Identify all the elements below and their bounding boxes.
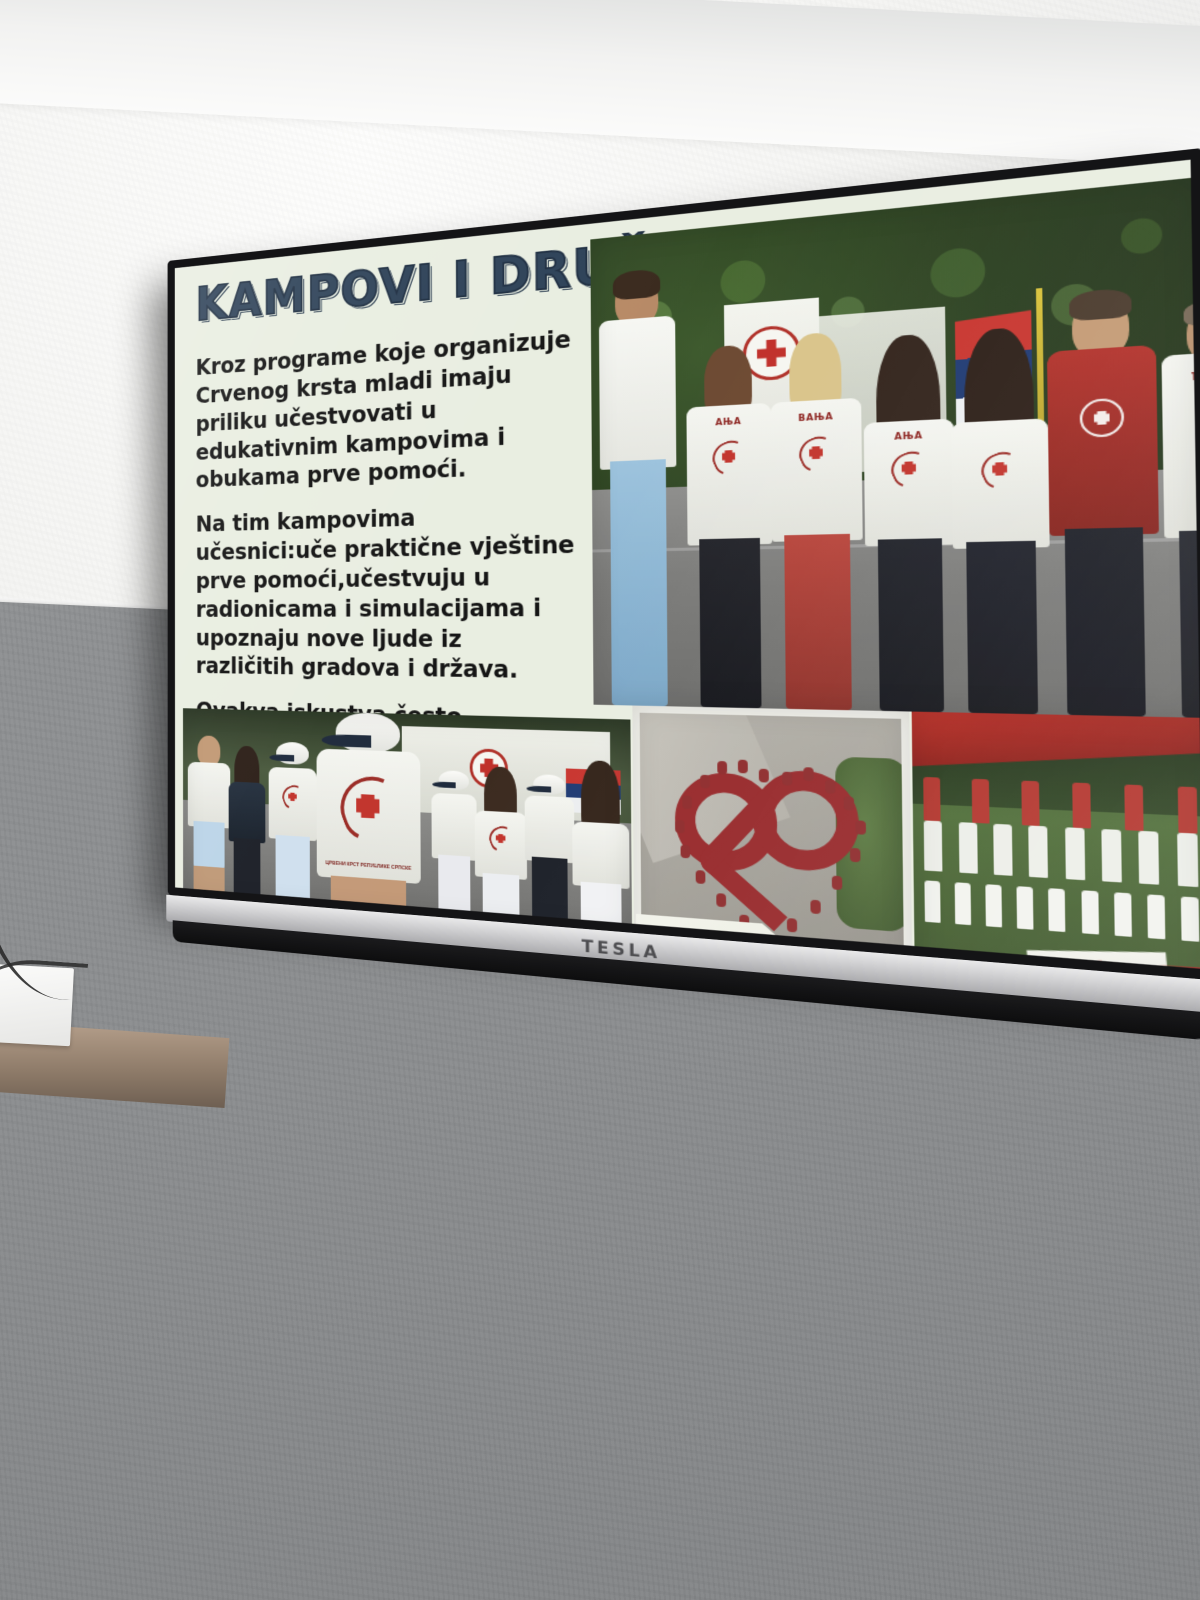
- red-cross-heart-logo-icon: [714, 443, 742, 469]
- serbian-flag-icon: [955, 310, 1033, 439]
- shirt-name-label: АЊА: [894, 431, 923, 443]
- white-cap-icon: [336, 712, 400, 753]
- background-trees: [912, 712, 1200, 817]
- flagpole: [1036, 288, 1046, 543]
- red-cross-heart-logo-icon: [801, 439, 831, 465]
- group-middle-row: [924, 820, 1198, 887]
- television[interactable]: KAMPOVI I DRUŽENJE Kroz programe koje or…: [168, 148, 1200, 980]
- person-camper: [474, 760, 527, 927]
- white-cap-icon: [439, 770, 469, 791]
- person-bystander: [599, 271, 679, 706]
- red-cross-emblem-icon: [743, 324, 801, 382]
- person-camper-foreground: ЦРВЕНИ КРСТ РЕПУБЛИКЕ СРПСКЕ: [316, 712, 420, 919]
- white-cap-icon: [533, 774, 565, 795]
- person-volunteer: ВАЊА: [770, 332, 865, 710]
- red-cross-heart-logo-icon: [344, 781, 392, 830]
- slide-title: KAMPOVI I DRUŽENJE: [196, 218, 804, 332]
- person-volunteer: АЊА: [686, 343, 774, 709]
- red-cross-emblem-icon: [1085, 404, 1119, 433]
- person-red-jacket: [1046, 284, 1162, 717]
- group-back-row: [924, 777, 1198, 834]
- photo-volunteer-lineup: АЊА ВАЊА: [590, 177, 1200, 718]
- shirt-name-label: ВАЊА: [798, 412, 833, 424]
- person-camper: [229, 744, 266, 906]
- slide-paragraph-1: Kroz programe koje organizuje Crvenog kr…: [196, 323, 582, 495]
- red-cross-heart-logo-icon: [284, 788, 301, 805]
- photo-human-heart-formation: [632, 706, 913, 969]
- person-camper: [188, 731, 231, 902]
- group-front-row: [925, 880, 1199, 941]
- red-cross-heart-logo-icon: [893, 454, 924, 481]
- shirt-name-label: АЊА: [715, 417, 741, 429]
- background-trees: [590, 177, 1200, 718]
- background-pavement: [592, 468, 1200, 718]
- background-grass: [836, 757, 905, 933]
- person-volunteer: ЂОРЂЕ: [1160, 284, 1200, 718]
- red-banner-strip: [912, 712, 1200, 767]
- red-cross-heart-logo-icon: [491, 829, 510, 848]
- white-banner: [819, 307, 947, 474]
- red-cross-banner: [724, 298, 821, 525]
- person-camper: [572, 756, 630, 936]
- slide-paragraph-2: Na tim kampovima učesnici:uče praktične …: [196, 498, 584, 687]
- room-scene: KAMPOVI I DRUŽENJE Kroz programe koje or…: [0, 0, 1200, 1600]
- shirt-name-label: ЂОРЂЕ: [1191, 369, 1200, 383]
- heart-people-dots: [640, 713, 905, 969]
- red-cross-heart-logo-icon: [983, 455, 1016, 483]
- person-camper: [431, 768, 477, 923]
- white-cap-icon: [276, 742, 309, 765]
- background-grass: [912, 712, 1200, 969]
- person-camper: [269, 740, 317, 910]
- tv-wrapper: KAMPOVI I DRUŽENJE Kroz programe koje or…: [0, 0, 1200, 1300]
- human-heart-shape: [671, 769, 868, 932]
- heart-photo-inner: [640, 713, 905, 969]
- tv-bezel: KAMPOVI I DRUŽENJE Kroz programe koje or…: [168, 148, 1200, 980]
- person-volunteer: АЊА: [863, 319, 958, 713]
- photo-group-portrait: [912, 712, 1200, 969]
- presentation-slide: KAMPOVI I DRUŽENJE Kroz programe koje or…: [175, 160, 1200, 969]
- person-camper: [524, 770, 574, 931]
- person-volunteer: [950, 308, 1052, 715]
